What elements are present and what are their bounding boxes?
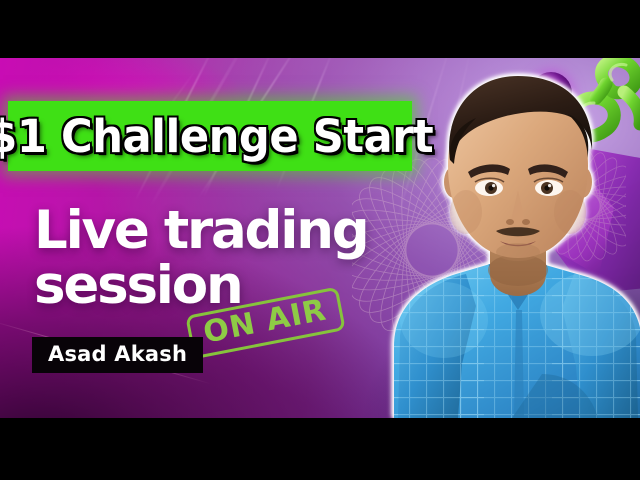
presenter-photo bbox=[392, 74, 640, 418]
letterbox-bar-bottom bbox=[0, 418, 640, 480]
main-title-line-1: Live trading bbox=[34, 200, 368, 261]
presenter-name: Asad Akash bbox=[48, 344, 187, 365]
headline-banner-text: $1 Challenge Start bbox=[0, 114, 433, 159]
presenter-nameplate: Asad Akash bbox=[32, 337, 203, 373]
thumbnail-stage: $1 Challenge Start Live trading session … bbox=[0, 58, 640, 418]
youtube-thumbnail: $1 Challenge Start Live trading session … bbox=[0, 0, 640, 480]
headline-banner: $1 Challenge Start bbox=[8, 101, 412, 171]
letterbox-bar-top bbox=[0, 0, 640, 58]
